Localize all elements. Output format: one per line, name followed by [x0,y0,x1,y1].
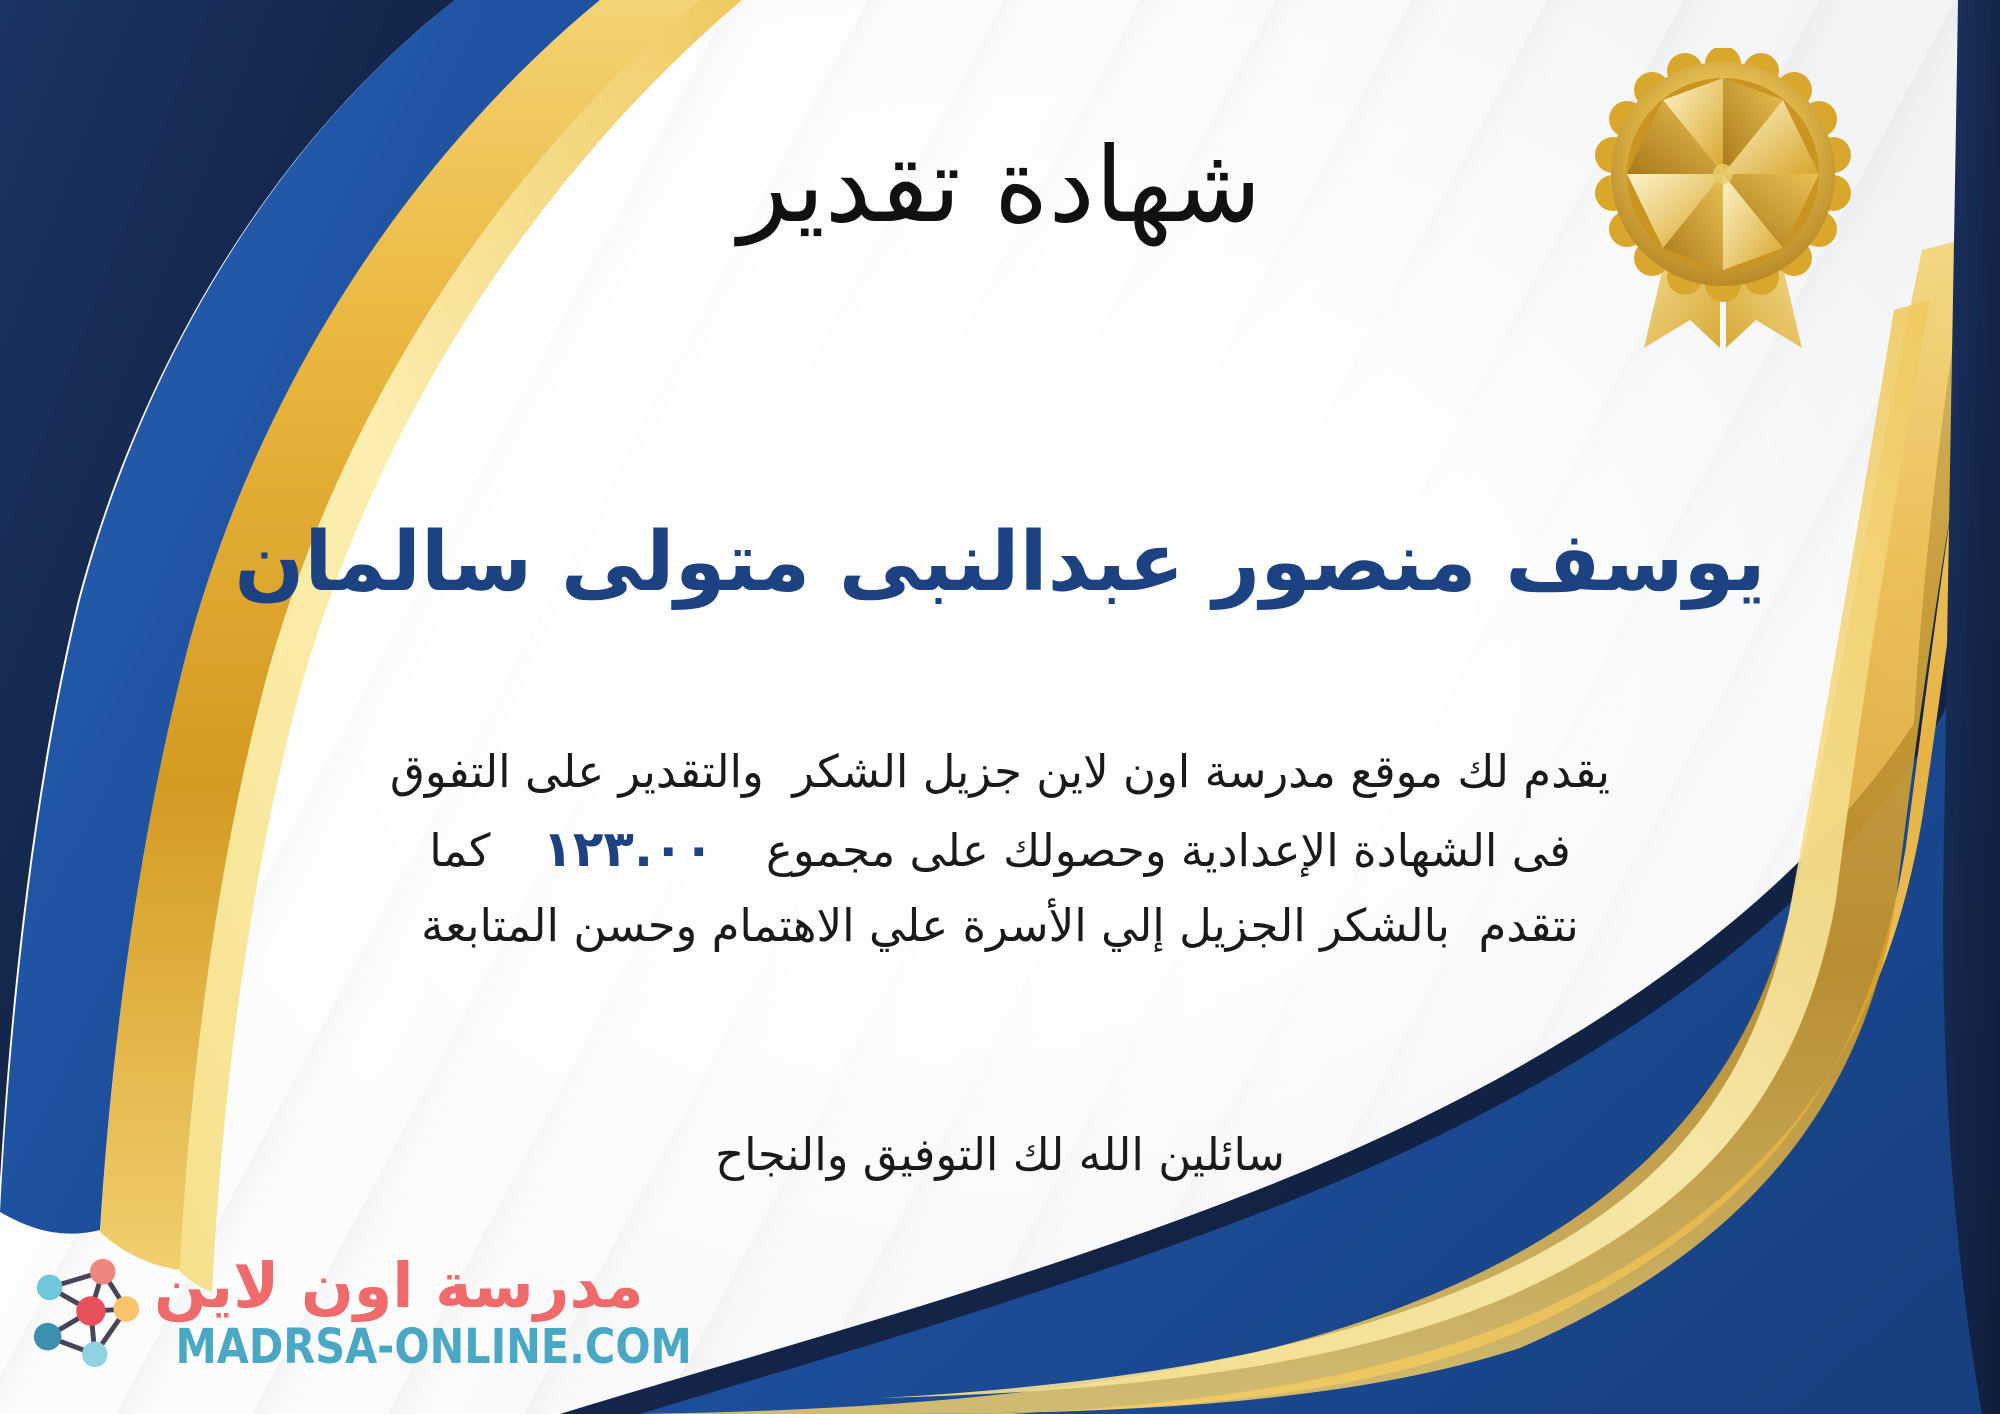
body-line-2-after-score: كما [429,824,490,877]
logo-text-block: مدرسة اون لاين MADRSA-ONLINE.COM [154,1255,692,1371]
network-nodes-icon [26,1254,144,1372]
body-line-2: فى الشهادة الإعدادية وحصولك على مجموع١٢٣… [150,809,1850,890]
certificate-title: شهادة تقدير [0,128,2000,242]
body-line-2-before-score: فى الشهادة الإعدادية وحصولك على مجموع [766,824,1571,877]
closing-line: سائلين الله لك التوفيق والنجاح [0,1128,2000,1181]
body-line-1: يقدم لك موقع مدرسة اون لاين جزيل الشكر و… [150,736,1850,809]
certificate-body: يقدم لك موقع مدرسة اون لاين جزيل الشكر و… [150,736,1850,963]
site-logo[interactable]: مدرسة اون لاين MADRSA-ONLINE.COM [26,1238,546,1388]
certificate-page: شهادة تقدير يوسف منصور عبدالنبى متولى سا… [0,0,2000,1414]
body-line-3: نتقدم بالشكر الجزيل إلي الأسرة علي الاهت… [150,890,1850,963]
logo-arabic-name: مدرسة اون لاين [154,1255,644,1317]
logo-domain: MADRSA-ONLINE.COM [176,1323,692,1371]
total-score-value: ١٢٣.٠٠ [490,820,766,878]
recipient-name: يوسف منصور عبدالنبى متولى سالمان [0,516,2000,610]
